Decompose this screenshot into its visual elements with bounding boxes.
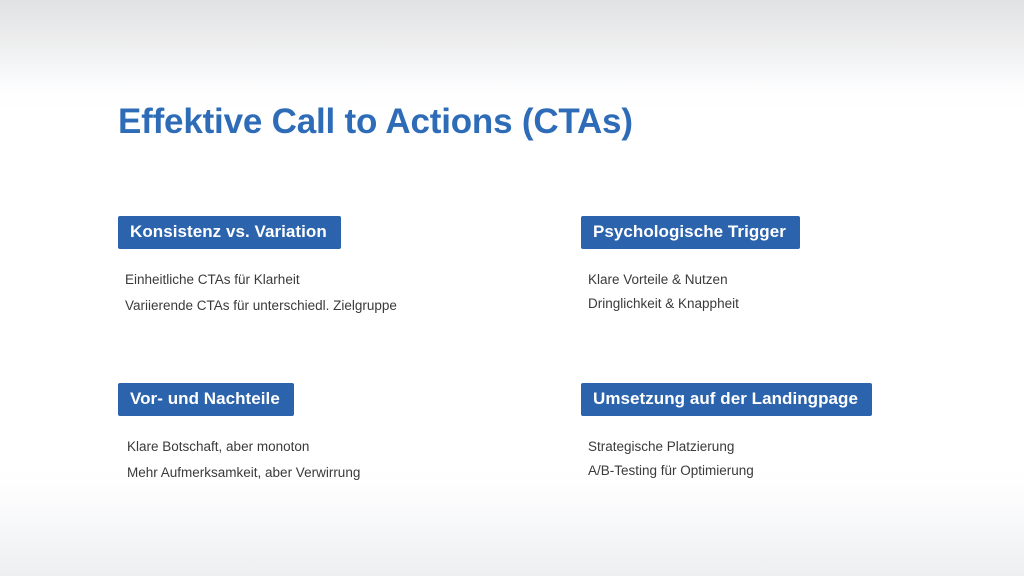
- list-item: Klare Botschaft, aber monoton: [127, 438, 360, 455]
- list-item: Klare Vorteile & Nutzen: [588, 271, 800, 288]
- content-block-vor-und-nachteile: Vor- und Nachteile Klare Botschaft, aber…: [118, 383, 360, 481]
- list-item: Dringlichkeit & Knappheit: [588, 295, 800, 312]
- list-item: A/B-Testing für Optimierung: [588, 462, 872, 479]
- section-heading-badge-konsistenz-vs-variation: Konsistenz vs. Variation: [118, 216, 341, 249]
- bullet-list-psychologische-trigger: Klare Vorteile & Nutzen Dringlichkeit & …: [581, 271, 800, 312]
- list-item: Variierende CTAs für unterschiedl. Zielg…: [125, 297, 397, 314]
- section-heading-badge-psychologische-trigger: Psychologische Trigger: [581, 216, 800, 249]
- section-heading-badge-umsetzung-auf-der-landingpage: Umsetzung auf der Landingpage: [581, 383, 872, 416]
- bullet-list-konsistenz-vs-variation: Einheitliche CTAs für Klarheit Variieren…: [118, 271, 397, 314]
- list-item: Strategische Platzierung: [588, 438, 872, 455]
- section-heading-badge-vor-und-nachteile: Vor- und Nachteile: [118, 383, 294, 416]
- content-block-konsistenz-vs-variation: Konsistenz vs. Variation Einheitliche CT…: [118, 216, 397, 314]
- page-title: Effektive Call to Actions (CTAs): [118, 100, 633, 144]
- list-item: Einheitliche CTAs für Klarheit: [125, 271, 397, 288]
- content-block-umsetzung-auf-der-landingpage: Umsetzung auf der Landingpage Strategisc…: [581, 383, 872, 479]
- bullet-list-vor-und-nachteile: Klare Botschaft, aber monoton Mehr Aufme…: [118, 438, 360, 481]
- slide-canvas: Effektive Call to Actions (CTAs) Konsist…: [0, 0, 1024, 576]
- bullet-list-umsetzung-auf-der-landingpage: Strategische Platzierung A/B-Testing für…: [581, 438, 872, 479]
- list-item: Mehr Aufmerksamkeit, aber Verwirrung: [127, 464, 360, 481]
- content-block-psychologische-trigger: Psychologische Trigger Klare Vorteile & …: [581, 216, 800, 312]
